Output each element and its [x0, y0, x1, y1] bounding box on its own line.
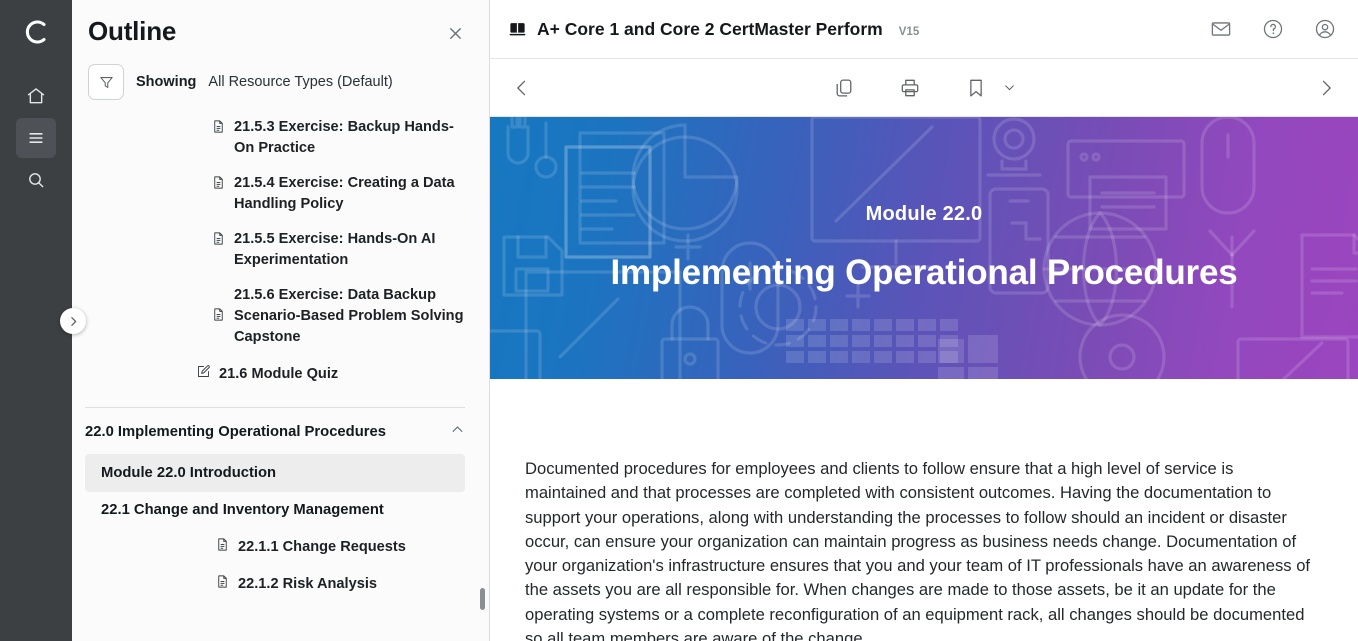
document-icon	[211, 231, 226, 253]
list-item[interactable]: 22.1.2 Risk Analysis	[72, 565, 479, 602]
menu-icon	[26, 128, 46, 148]
help-button[interactable]	[1262, 18, 1284, 40]
chevron-up-icon[interactable]	[450, 422, 465, 442]
document-icon	[215, 537, 230, 556]
print-button[interactable]	[899, 77, 921, 99]
outline-header: Outline	[72, 0, 489, 52]
quiz-pencil-icon	[196, 364, 211, 386]
bookmark-dropdown-button[interactable]	[1003, 81, 1016, 94]
help-circle-icon	[1262, 18, 1284, 40]
comptia-logo	[14, 10, 58, 54]
list-item[interactable]: 21.5.6 Exercise: Data Backup Scenario-Ba…	[72, 278, 479, 355]
outline-item-module-introduction[interactable]: Module 22.0 Introduction	[85, 454, 465, 492]
bookmark-group	[965, 77, 1016, 99]
filter-button[interactable]	[88, 64, 124, 100]
previous-page-button[interactable]	[512, 78, 532, 98]
app-root: Outline Showing All Resource Types (Defa…	[0, 0, 1358, 641]
list-item-label: 21.6 Module Quiz	[219, 364, 338, 385]
rail-item-home[interactable]	[16, 76, 56, 116]
outline-panel: Outline Showing All Resource Types (Defa…	[72, 0, 490, 641]
filter-showing-label: Showing	[136, 74, 196, 90]
close-icon	[446, 24, 465, 43]
outline-group-label: 22.0 Implementing Operational Procedures	[85, 424, 386, 440]
document-icon	[215, 574, 230, 593]
chevron-right-icon	[1316, 78, 1336, 98]
sidebar-collapse-handle[interactable]	[60, 308, 86, 334]
list-item-label: 21.5.6 Exercise: Data Backup Scenario-Ba…	[234, 285, 465, 348]
list-item[interactable]: 22.1.1 Change Requests	[72, 528, 479, 565]
mail-icon	[1210, 18, 1232, 40]
list-item-label: 22.1.1 Change Requests	[238, 539, 406, 555]
chevron-down-icon	[1003, 81, 1016, 94]
home-icon	[26, 86, 46, 106]
filter-row: Showing All Resource Types (Default)	[72, 52, 489, 110]
chevron-right-icon	[67, 315, 80, 328]
next-page-button[interactable]	[1316, 78, 1336, 98]
outline-section-change-inventory[interactable]: 22.1 Change and Inventory Management	[72, 492, 479, 528]
copy-icon	[833, 77, 855, 99]
outline-scrollbar-thumb[interactable]	[480, 588, 485, 610]
list-item-label: 21.5.3 Exercise: Backup Hands-On Practic…	[234, 117, 465, 159]
list-item[interactable]: 21.5.4 Exercise: Creating a Data Handlin…	[72, 166, 479, 222]
banner-module-label: Module 22.0	[866, 203, 983, 226]
list-item[interactable]: 21.5.5 Exercise: Hands-On AI Experimenta…	[72, 222, 479, 278]
print-icon	[899, 77, 921, 99]
list-item[interactable]: 21.6 Module Quiz	[72, 355, 479, 393]
banner-heading: Implementing Operational Procedures	[610, 253, 1237, 293]
document-icon	[211, 119, 226, 141]
filter-funnel-icon	[98, 74, 115, 91]
mail-button[interactable]	[1210, 18, 1232, 40]
book-reader-icon	[508, 20, 527, 39]
chevron-left-icon	[512, 78, 532, 98]
list-item-label: 21.5.5 Exercise: Hands-On AI Experimenta…	[234, 229, 465, 271]
list-item-label: 22.1.2 Risk Analysis	[238, 576, 377, 592]
banner-text: Module 22.0 Implementing Operational Pro…	[490, 117, 1358, 379]
bookmark-icon	[965, 77, 987, 99]
page-title: Outline	[88, 16, 176, 47]
rail-item-outline[interactable]	[16, 118, 56, 158]
body-paragraph: Documented procedures for employees and …	[490, 379, 1335, 641]
main-pane: A+ Core 1 and Core 2 CertMaster Perform …	[490, 0, 1358, 641]
course-version: V15	[899, 26, 919, 38]
copy-button[interactable]	[833, 77, 855, 99]
document-icon	[211, 175, 226, 197]
module-banner: Module 22.0 Implementing Operational Pro…	[490, 117, 1358, 379]
user-circle-icon	[1314, 18, 1336, 40]
outline-list: 21.5.3 Exercise: Backup Hands-On Practic…	[72, 110, 489, 641]
outline-group-header[interactable]: 22.0 Implementing Operational Procedures	[72, 408, 479, 454]
toolbar-center-actions	[490, 77, 1358, 99]
list-item[interactable]: 21.5.3 Exercise: Backup Hands-On Practic…	[72, 110, 479, 166]
close-outline-button[interactable]	[442, 20, 469, 52]
bookmark-button[interactable]	[965, 77, 987, 99]
document-icon	[211, 307, 226, 329]
outline-scrollbar[interactable]	[480, 110, 485, 641]
list-item-label: 21.5.4 Exercise: Creating a Data Handlin…	[234, 173, 465, 215]
account-button[interactable]	[1314, 18, 1336, 40]
course-header: A+ Core 1 and Core 2 CertMaster Perform …	[490, 0, 1358, 59]
filter-showing-value[interactable]: All Resource Types (Default)	[208, 74, 392, 90]
search-icon	[26, 170, 46, 190]
course-title: A+ Core 1 and Core 2 CertMaster Perform	[537, 19, 883, 40]
content-area: Module 22.0 Implementing Operational Pro…	[490, 117, 1358, 641]
reader-toolbar	[490, 59, 1358, 117]
rail-item-search[interactable]	[16, 160, 56, 200]
